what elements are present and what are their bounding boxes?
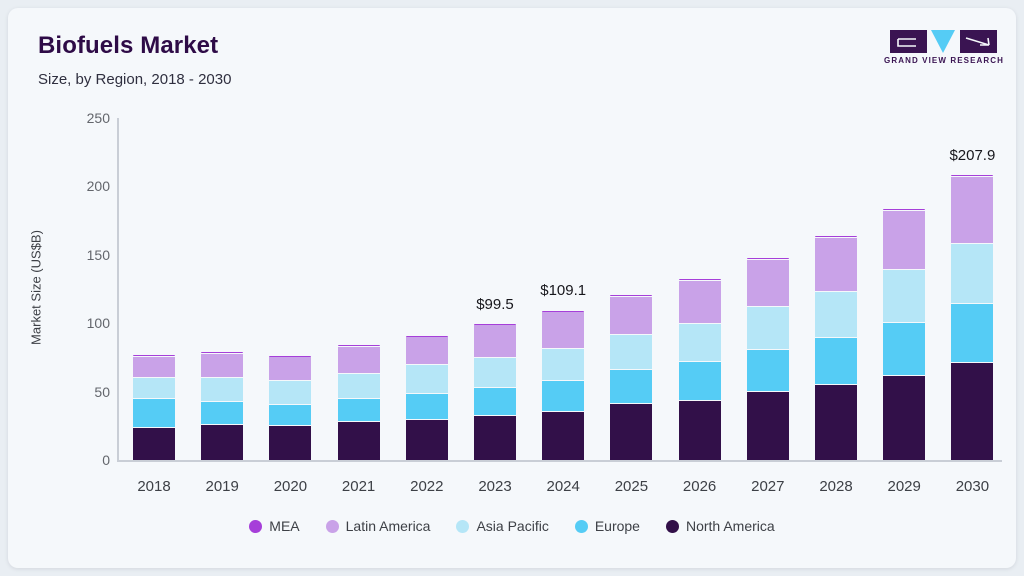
- bar-segment-2025-latin-america[interactable]: [610, 296, 652, 334]
- bar-segment-2025-asia-pacific[interactable]: [610, 334, 652, 369]
- legend-label: Asia Pacific: [476, 518, 548, 534]
- bar-segment-2026-europe[interactable]: [679, 361, 721, 400]
- bar-group-2028[interactable]: [815, 236, 857, 460]
- legend-item-north-america[interactable]: North America: [666, 518, 775, 534]
- legend-swatch-icon: [666, 520, 679, 533]
- chart-legend: MEALatin AmericaAsia PacificEuropeNorth …: [8, 518, 1016, 534]
- bar-group-2021[interactable]: [338, 345, 380, 460]
- bar-group-2030[interactable]: [951, 175, 993, 460]
- x-tick-label-2028: 2028: [802, 478, 870, 495]
- y-tick-label: 100: [70, 315, 110, 331]
- bar-segment-2022-asia-pacific[interactable]: [406, 364, 448, 393]
- bar-segment-2022-mea[interactable]: [406, 336, 448, 337]
- bar-segment-2025-north-america[interactable]: [610, 403, 652, 460]
- bar-segment-2029-asia-pacific[interactable]: [883, 269, 925, 322]
- bar-group-2024[interactable]: [542, 310, 584, 460]
- bar-value-label-2030: $207.9: [922, 147, 1016, 164]
- bar-group-2019[interactable]: [201, 352, 243, 460]
- bar-segment-2020-asia-pacific[interactable]: [269, 380, 311, 403]
- bar-segment-2019-europe[interactable]: [201, 401, 243, 423]
- bar-segment-2018-europe[interactable]: [133, 398, 175, 427]
- legend-swatch-icon: [249, 520, 262, 533]
- bar-segment-2020-latin-america[interactable]: [269, 356, 311, 380]
- bar-segment-2023-europe[interactable]: [474, 387, 516, 415]
- chart-plot-area: 050100150200250 Market Size (US$B) 20182…: [8, 8, 1016, 568]
- legend-label: North America: [686, 518, 775, 534]
- legend-swatch-icon: [456, 520, 469, 533]
- x-tick-label-2021: 2021: [325, 478, 393, 495]
- y-tick-label: 200: [70, 178, 110, 194]
- legend-label: MEA: [269, 518, 299, 534]
- bar-segment-2018-asia-pacific[interactable]: [133, 377, 175, 398]
- bar-segment-2023-asia-pacific[interactable]: [474, 357, 516, 387]
- x-tick-label-2018: 2018: [120, 478, 188, 495]
- x-tick-label-2025: 2025: [597, 478, 665, 495]
- bar-segment-2027-latin-america[interactable]: [747, 259, 789, 305]
- bar-segment-2019-latin-america[interactable]: [201, 353, 243, 377]
- legend-item-mea[interactable]: MEA: [249, 518, 299, 534]
- bar-segment-2029-mea[interactable]: [883, 209, 925, 210]
- bar-segment-2021-latin-america[interactable]: [338, 346, 380, 373]
- bar-segment-2030-latin-america[interactable]: [951, 176, 993, 242]
- bar-segment-2021-asia-pacific[interactable]: [338, 373, 380, 398]
- bar-group-2023[interactable]: [474, 324, 516, 460]
- x-tick-label-2020: 2020: [256, 478, 324, 495]
- bar-segment-2023-north-america[interactable]: [474, 415, 516, 460]
- bar-segment-2021-north-america[interactable]: [338, 421, 380, 460]
- y-axis-title: Market Size (US$B): [29, 188, 44, 388]
- bar-segment-2018-north-america[interactable]: [133, 427, 175, 460]
- bar-segment-2030-asia-pacific[interactable]: [951, 243, 993, 303]
- legend-swatch-icon: [575, 520, 588, 533]
- y-tick-label: 150: [70, 247, 110, 263]
- bar-segment-2023-latin-america[interactable]: [474, 324, 516, 357]
- x-tick-label-2026: 2026: [666, 478, 734, 495]
- screenshot-root: Biofuels Market Size, by Region, 2018 - …: [0, 0, 1024, 576]
- bar-segment-2029-latin-america[interactable]: [883, 210, 925, 269]
- x-tick-label-2023: 2023: [461, 478, 529, 495]
- bar-segment-2022-latin-america[interactable]: [406, 336, 448, 363]
- bar-group-2026[interactable]: [679, 279, 721, 460]
- bar-segment-2024-latin-america[interactable]: [542, 311, 584, 348]
- bar-segment-2026-mea[interactable]: [679, 279, 721, 280]
- bar-segment-2030-europe[interactable]: [951, 303, 993, 362]
- bar-segment-2027-asia-pacific[interactable]: [747, 306, 789, 349]
- legend-item-asia-pacific[interactable]: Asia Pacific: [456, 518, 548, 534]
- bar-segment-2024-mea[interactable]: [542, 311, 584, 312]
- y-tick-label: 0: [70, 452, 110, 468]
- bar-group-2020[interactable]: [269, 356, 311, 460]
- bar-segment-2024-north-america[interactable]: [542, 411, 584, 460]
- bar-segment-2022-europe[interactable]: [406, 393, 448, 419]
- x-tick-label-2029: 2029: [870, 478, 938, 495]
- bar-segment-2028-asia-pacific[interactable]: [815, 291, 857, 337]
- bar-segment-2027-north-america[interactable]: [747, 391, 789, 460]
- bar-group-2018[interactable]: [133, 355, 175, 460]
- bar-segment-2019-mea[interactable]: [201, 352, 243, 353]
- bar-segment-2030-north-america[interactable]: [951, 362, 993, 460]
- x-tick-label-2019: 2019: [188, 478, 256, 495]
- bar-segment-2024-europe[interactable]: [542, 380, 584, 411]
- y-tick-label: 50: [70, 384, 110, 400]
- bar-value-label-2024: $109.1: [513, 282, 613, 299]
- bar-segment-2021-mea[interactable]: [338, 345, 380, 346]
- legend-swatch-icon: [326, 520, 339, 533]
- x-tick-label-2022: 2022: [393, 478, 461, 495]
- bar-segment-2019-asia-pacific[interactable]: [201, 377, 243, 401]
- bar-segment-2026-asia-pacific[interactable]: [679, 323, 721, 361]
- x-tick-label-2027: 2027: [734, 478, 802, 495]
- bar-segment-2026-north-america[interactable]: [679, 400, 721, 460]
- bar-group-2025[interactable]: [610, 295, 652, 460]
- legend-item-latin-america[interactable]: Latin America: [326, 518, 431, 534]
- bar-segment-2028-latin-america[interactable]: [815, 237, 857, 290]
- bar-segment-2018-mea[interactable]: [133, 355, 175, 356]
- bar-segment-2023-mea[interactable]: [474, 324, 516, 325]
- bar-group-2022[interactable]: [406, 336, 448, 460]
- bar-segment-2018-latin-america[interactable]: [133, 356, 175, 377]
- bar-group-2027[interactable]: [747, 258, 789, 460]
- chart-card: Biofuels Market Size, by Region, 2018 - …: [8, 8, 1016, 568]
- legend-label: Latin America: [346, 518, 431, 534]
- bar-segment-2022-north-america[interactable]: [406, 419, 448, 460]
- legend-label: Europe: [595, 518, 640, 534]
- bar-segment-2020-mea[interactable]: [269, 356, 311, 357]
- bar-segment-2026-latin-america[interactable]: [679, 280, 721, 323]
- bar-segment-2020-europe[interactable]: [269, 404, 311, 426]
- x-axis-line: [117, 460, 1002, 462]
- bar-segment-2021-europe[interactable]: [338, 398, 380, 421]
- legend-item-europe[interactable]: Europe: [575, 518, 640, 534]
- bar-segment-2029-north-america[interactable]: [883, 375, 925, 460]
- bar-segment-2029-europe[interactable]: [883, 322, 925, 375]
- y-tick-label: 250: [70, 110, 110, 126]
- bar-segment-2028-north-america[interactable]: [815, 384, 857, 460]
- x-tick-label-2030: 2030: [938, 478, 1006, 495]
- x-tick-label-2024: 2024: [529, 478, 597, 495]
- bar-segment-2028-europe[interactable]: [815, 337, 857, 384]
- bar-group-2029[interactable]: [883, 209, 925, 460]
- y-axis-line: [117, 118, 119, 461]
- y-axis-ticks: 050100150200250: [62, 8, 110, 568]
- bar-segment-2025-europe[interactable]: [610, 369, 652, 403]
- bar-segment-2020-north-america[interactable]: [269, 425, 311, 460]
- bar-segment-2019-north-america[interactable]: [201, 424, 243, 460]
- bar-segment-2024-asia-pacific[interactable]: [542, 348, 584, 380]
- bar-segment-2027-europe[interactable]: [747, 349, 789, 391]
